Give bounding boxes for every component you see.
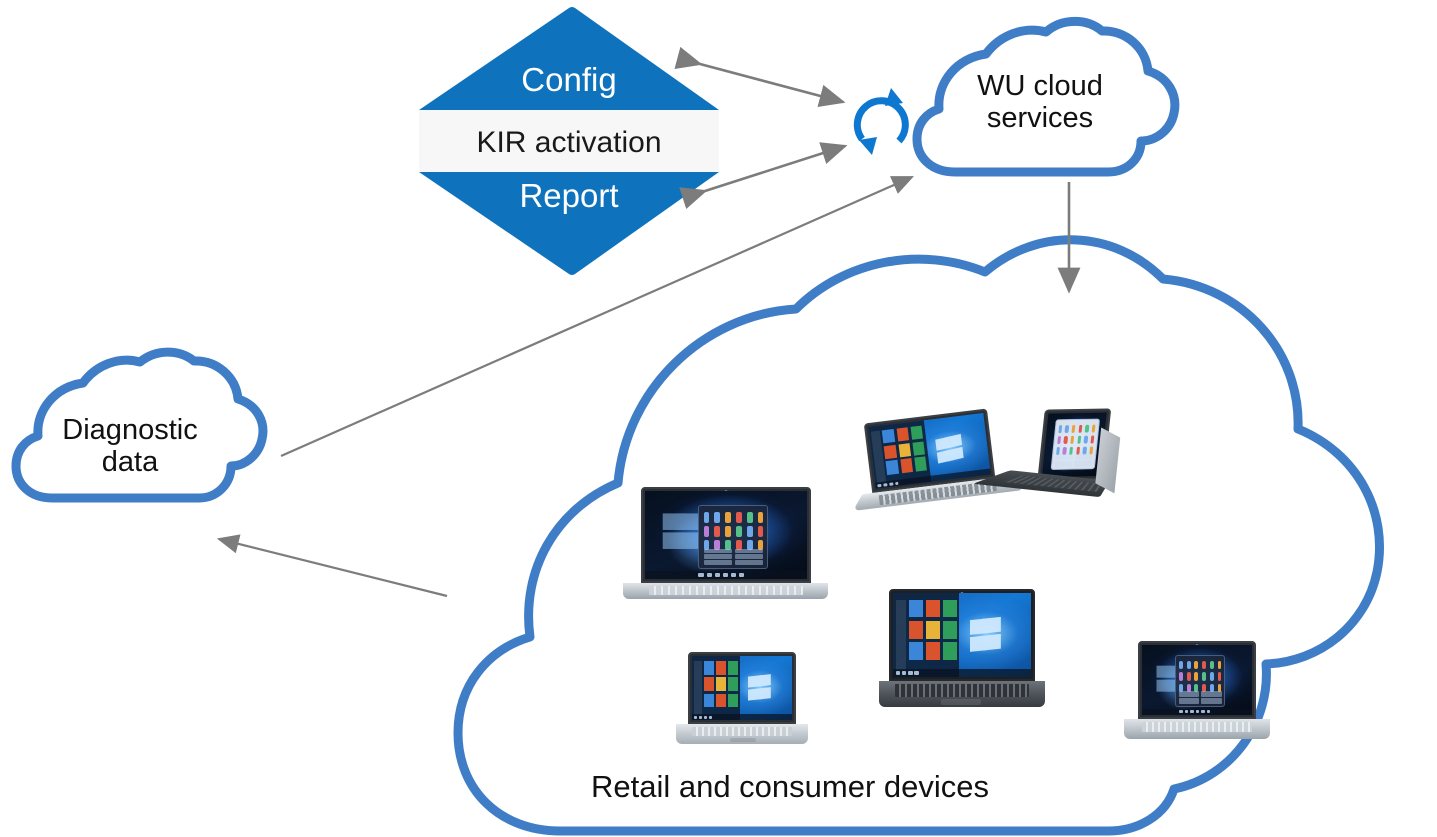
devices-cloud-outline <box>458 240 1379 831</box>
device-laptop-win10-silver <box>854 407 1014 513</box>
device-surface-book-win10 <box>676 652 808 744</box>
connector-config-sync <box>700 64 843 102</box>
wu-cloud-outline <box>917 21 1175 172</box>
diagnostic-cloud-outline <box>16 352 263 498</box>
sync-refresh-icon <box>857 88 905 155</box>
connector-devices-to-diagnostic <box>219 539 447 596</box>
diagram-canvas: Config KIR activation Report WU cloud se… <box>0 0 1437 837</box>
device-business-laptop-win10-dark <box>879 589 1045 707</box>
hexagon-config-triangle <box>419 7 719 110</box>
connector-report-sync <box>705 146 845 191</box>
kir-activation-hexagon <box>419 7 719 275</box>
device-surface-laptop-win11 <box>623 487 828 599</box>
device-surface-laptop-win11-right <box>1124 641 1270 739</box>
hexagon-middle-band <box>419 110 719 172</box>
hexagon-report-triangle <box>419 172 719 275</box>
device-surface-pro-tablet-win11 <box>1007 407 1128 510</box>
